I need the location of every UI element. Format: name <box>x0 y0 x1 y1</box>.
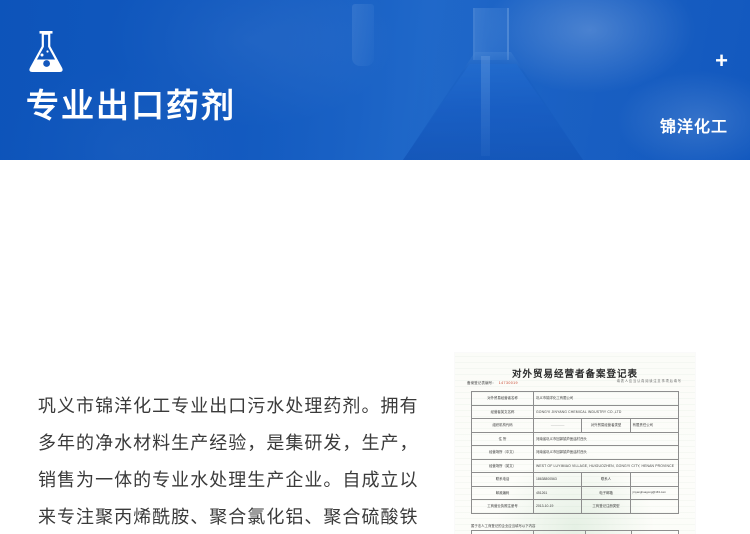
table-row: 邮政编码 451261 电子邮箱 jinyanghuagong@163.com <box>472 486 679 500</box>
table-row: 经营者英文名称 GONGYI JINYANG CHEMICAL INDUSTRY… <box>472 405 679 419</box>
cell-value: 闫丁锋 <box>534 531 586 534</box>
cell-label: 住 所 <box>472 432 534 446</box>
cell-value-2 <box>630 473 678 487</box>
certificate-regno-value: 14730019 <box>499 381 518 385</box>
content-area: 巩义市锦洋化工专业出口污水处理药剂。拥有多年的净水材料生产经验，是集研发，生产，… <box>0 160 750 534</box>
cell-label: 组织机构代码 <box>472 419 534 433</box>
cell-label-2: 对外贸易经营者类型 <box>582 419 630 433</box>
table-row: 经营场所（中文） 河南省巩义市回郭镇芦医庙村西头 <box>472 446 679 460</box>
cell-value: WEST OF LUYIMIAO VILLAGE, HUIGUOZHEN, GO… <box>534 459 679 473</box>
certificate-legal-rep-table: 法定代表人姓名 闫丁锋 身份证号码 410181198105150021 法定代… <box>471 530 679 534</box>
table-row: 工商营业执照注册号 2013-10-19 工商登记注册类型 <box>472 500 679 514</box>
cell-value-2: jinyanghuagong@163.com <box>630 486 678 500</box>
cell-label: 邮政编码 <box>472 486 534 500</box>
cell-value: ———— <box>534 419 582 433</box>
banner-title: 专业出口药剂 <box>26 88 236 124</box>
page-banner: 专业出口药剂 + 锦洋化工 <box>0 0 750 160</box>
table-row: 住 所 河南省巩义市回郭镇芦医庙村西头 <box>472 432 679 446</box>
banner-blue-overlay <box>0 0 750 160</box>
cell-value-2: 410181198105150021 <box>632 531 679 534</box>
cell-value-2: 有限责任公司 <box>630 419 678 433</box>
certificate-regno-label: 备案登记表编号： <box>467 381 496 385</box>
certificate-main-table: 对外贸易经营者名称 巩义市锦洋化工有限公司 经营者英文名称 GONGYI JIN… <box>471 391 679 514</box>
cell-label-2: 联系人 <box>582 473 630 487</box>
table-row: 经营场所（英文） WEST OF LUYIMIAO VILLAGE, HUIGU… <box>472 459 679 473</box>
cell-label-2: 工商登记注册类型 <box>582 500 630 514</box>
cell-label: 工商营业执照注册号 <box>472 500 534 514</box>
cell-label: 经营者英文名称 <box>472 405 534 419</box>
cell-value: GONGYI JINYANG CHEMICAL INDUSTRY CO.,LTD <box>534 405 679 419</box>
cell-label: 经营场所（中文） <box>472 446 534 460</box>
cell-value: 451261 <box>534 486 582 500</box>
plus-icon[interactable]: + <box>715 50 728 72</box>
certificate-registration-number: 备案登记表编号：14730019 <box>467 381 518 386</box>
certificate-image: 对外贸易经营者备案登记表 填 表 人 应 当 认 真 阅 读 注 意 事 项 后… <box>455 353 695 534</box>
cell-label: 联系电话 <box>472 473 534 487</box>
certificate-title: 对外贸易经营者备案登记表 <box>455 366 695 380</box>
cell-label-2: 身份证号码 <box>586 531 632 534</box>
page-root: 专业出口药剂 + 锦洋化工 巩义市锦洋化工专业出口污水处理药剂。拥有多年的净水材… <box>0 0 750 534</box>
cell-value-2 <box>630 500 678 514</box>
table-row: 对外贸易经营者名称 巩义市锦洋化工有限公司 <box>472 392 679 406</box>
company-intro-paragraph: 巩义市锦洋化工专业出口污水处理药剂。拥有多年的净水材料生产经验，是集研发，生产，… <box>38 388 418 534</box>
certificate-section-note-1: 属于法人工商登记的企业应当填写以下内容 <box>471 523 535 528</box>
flask-icon <box>26 30 66 74</box>
brand-name: 锦洋化工 <box>660 113 728 137</box>
cell-label: 法定代表人姓名 <box>472 531 534 534</box>
cell-value: 河南省巩义市回郭镇芦医庙村西头 <box>534 432 679 446</box>
cell-label-2: 电子邮箱 <box>582 486 630 500</box>
cell-label: 对外贸易经营者名称 <box>472 392 534 406</box>
table-row: 联系电话 18638800563 联系人 <box>472 473 679 487</box>
cell-value: 18638800563 <box>534 473 582 487</box>
cell-label: 经营场所（英文） <box>472 459 534 473</box>
cell-value: 河南省巩义市回郭镇芦医庙村西头 <box>534 446 679 460</box>
cell-value: 2013-10-19 <box>534 500 582 514</box>
table-row: 组织机构代码 ———— 对外贸易经营者类型 有限责任公司 <box>472 419 679 433</box>
table-row: 法定代表人姓名 闫丁锋 身份证号码 410181198105150021 <box>472 531 679 534</box>
cell-value: 巩义市锦洋化工有限公司 <box>534 392 679 406</box>
certificate-subnote: 填 表 人 应 当 认 真 阅 读 注 意 事 项 后 填 写 <box>585 379 681 384</box>
